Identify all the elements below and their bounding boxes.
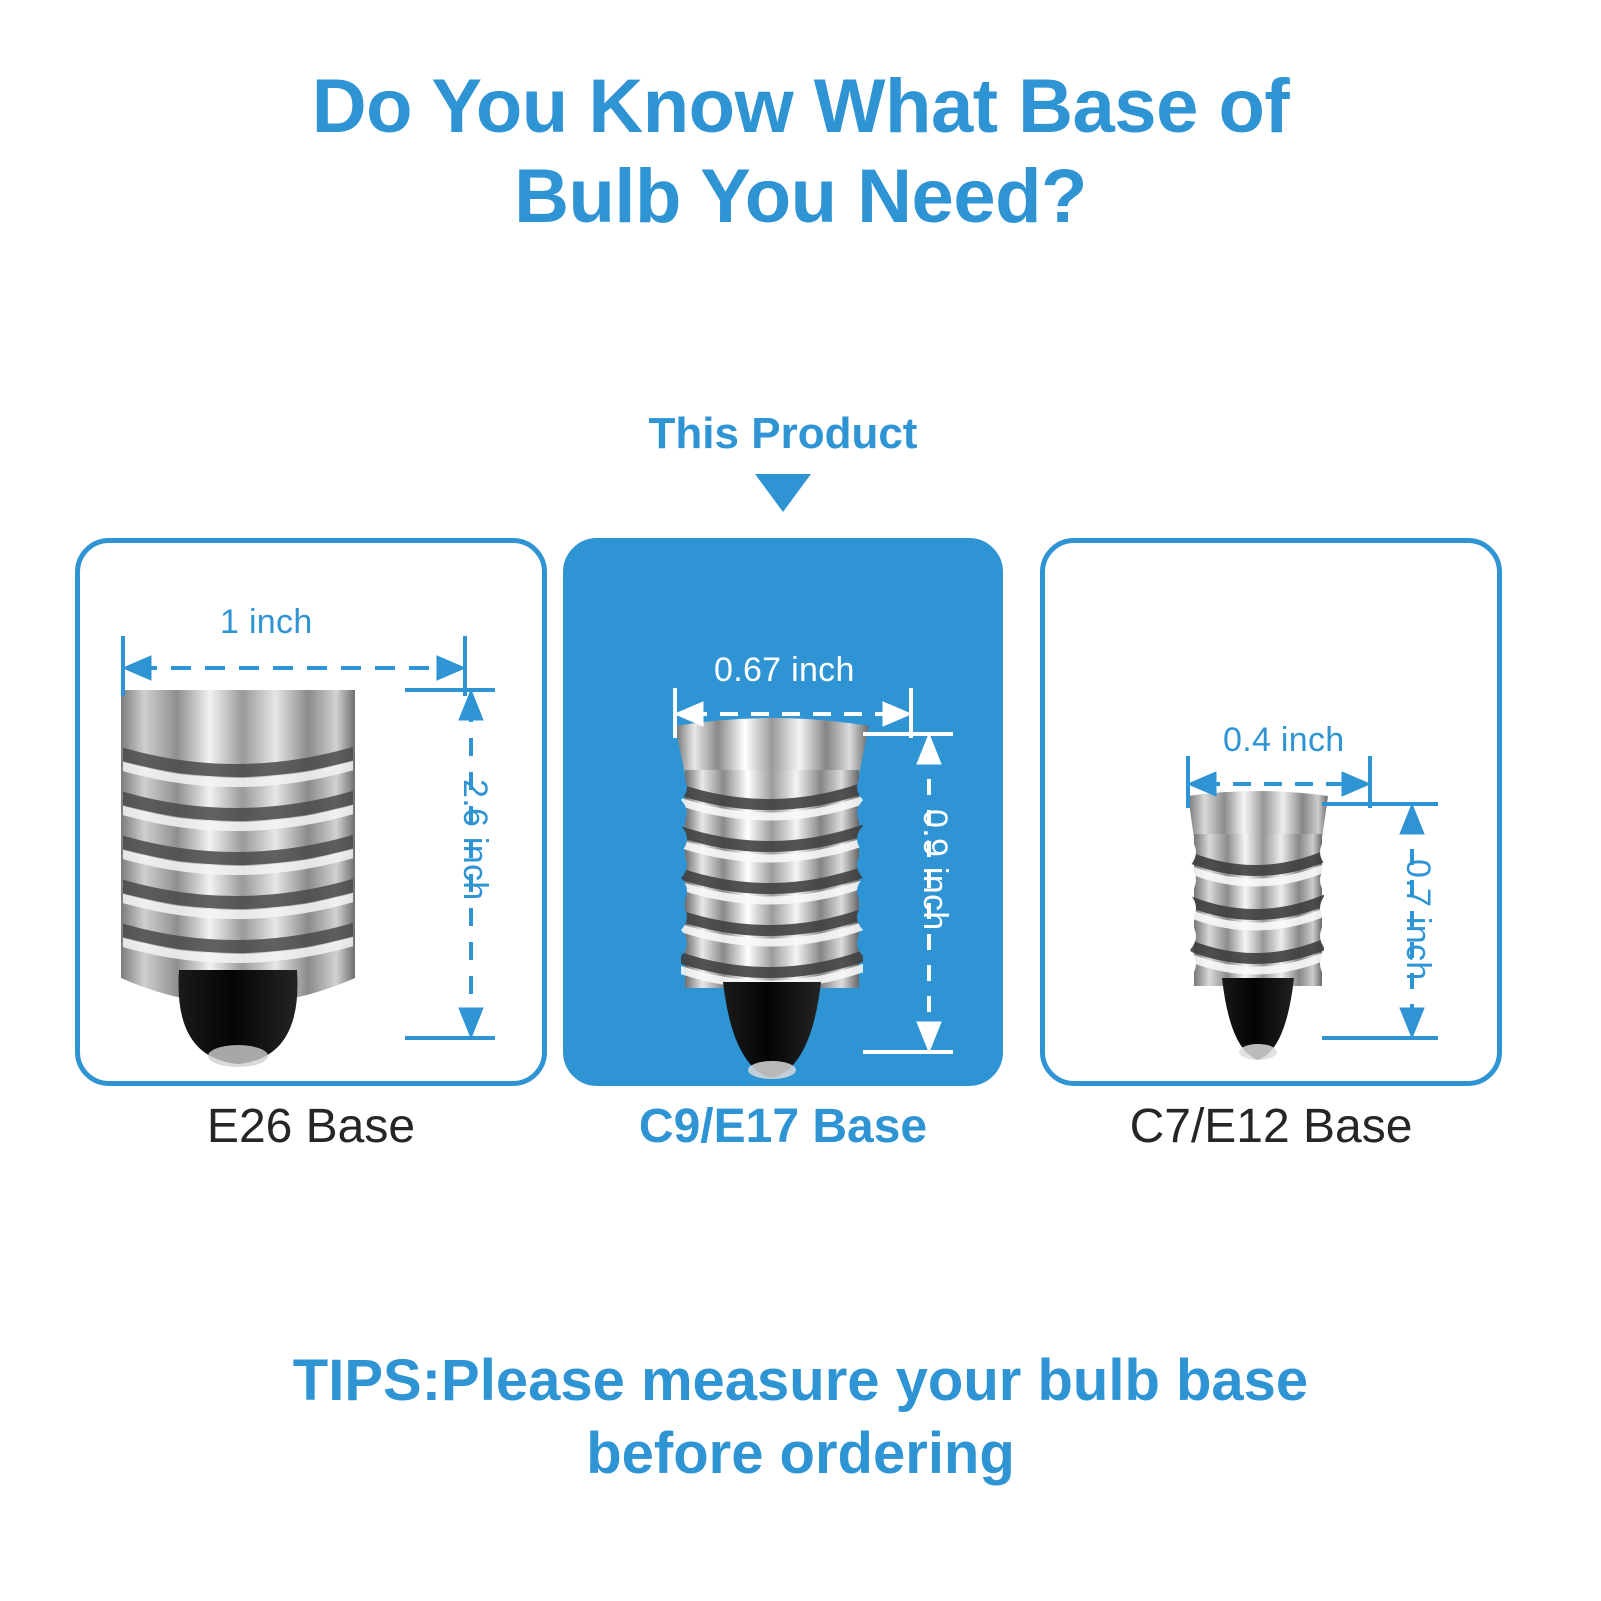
c7-bulb-icon (1170, 791, 1346, 1060)
c9-height-label: 0.9 inch (915, 809, 954, 930)
c7-card-graphics (1040, 538, 1502, 1086)
page-title: Do You Know What Base of Bulb You Need? (0, 62, 1601, 241)
base-card-e26[interactable]: 1 inch 2.6 inch (75, 538, 547, 1086)
caption-e26: E26 Base (75, 1103, 547, 1151)
this-product-callout: This Product (563, 412, 1003, 512)
triangle-down-icon (755, 474, 811, 512)
c7-width-label: 0.4 inch (1223, 721, 1344, 760)
infographic-canvas: Do You Know What Base of Bulb You Need? … (0, 0, 1601, 1601)
e26-height-label: 2.6 inch (455, 779, 494, 900)
tips-note: TIPS:Please measure your bulb base befor… (0, 1345, 1601, 1490)
caption-c9-e17: C9/E17 Base (563, 1103, 1003, 1151)
tips-line-2: before ordering (0, 1418, 1601, 1491)
c9-bulb-icon (661, 718, 885, 1079)
e26-bulb-icon (101, 690, 375, 1067)
caption-c7-e12: C7/E12 Base (1040, 1103, 1502, 1151)
this-product-label: This Product (563, 412, 1003, 456)
c9-width-label: 0.67 inch (714, 651, 855, 690)
c7-height-label: 0.7 inch (1398, 859, 1437, 980)
page-title-line-1: Do You Know What Base of (0, 62, 1601, 152)
base-card-c7-e12[interactable]: 0.4 inch 0.7 inch (1040, 538, 1502, 1086)
base-card-c9-e17[interactable]: 0.67 inch 0.9 inch (563, 538, 1003, 1086)
tips-line-1: TIPS:Please measure your bulb base (0, 1345, 1601, 1418)
page-title-line-2: Bulb You Need? (0, 152, 1601, 242)
e26-width-dimension (123, 636, 465, 696)
e26-width-label: 1 inch (220, 603, 313, 642)
